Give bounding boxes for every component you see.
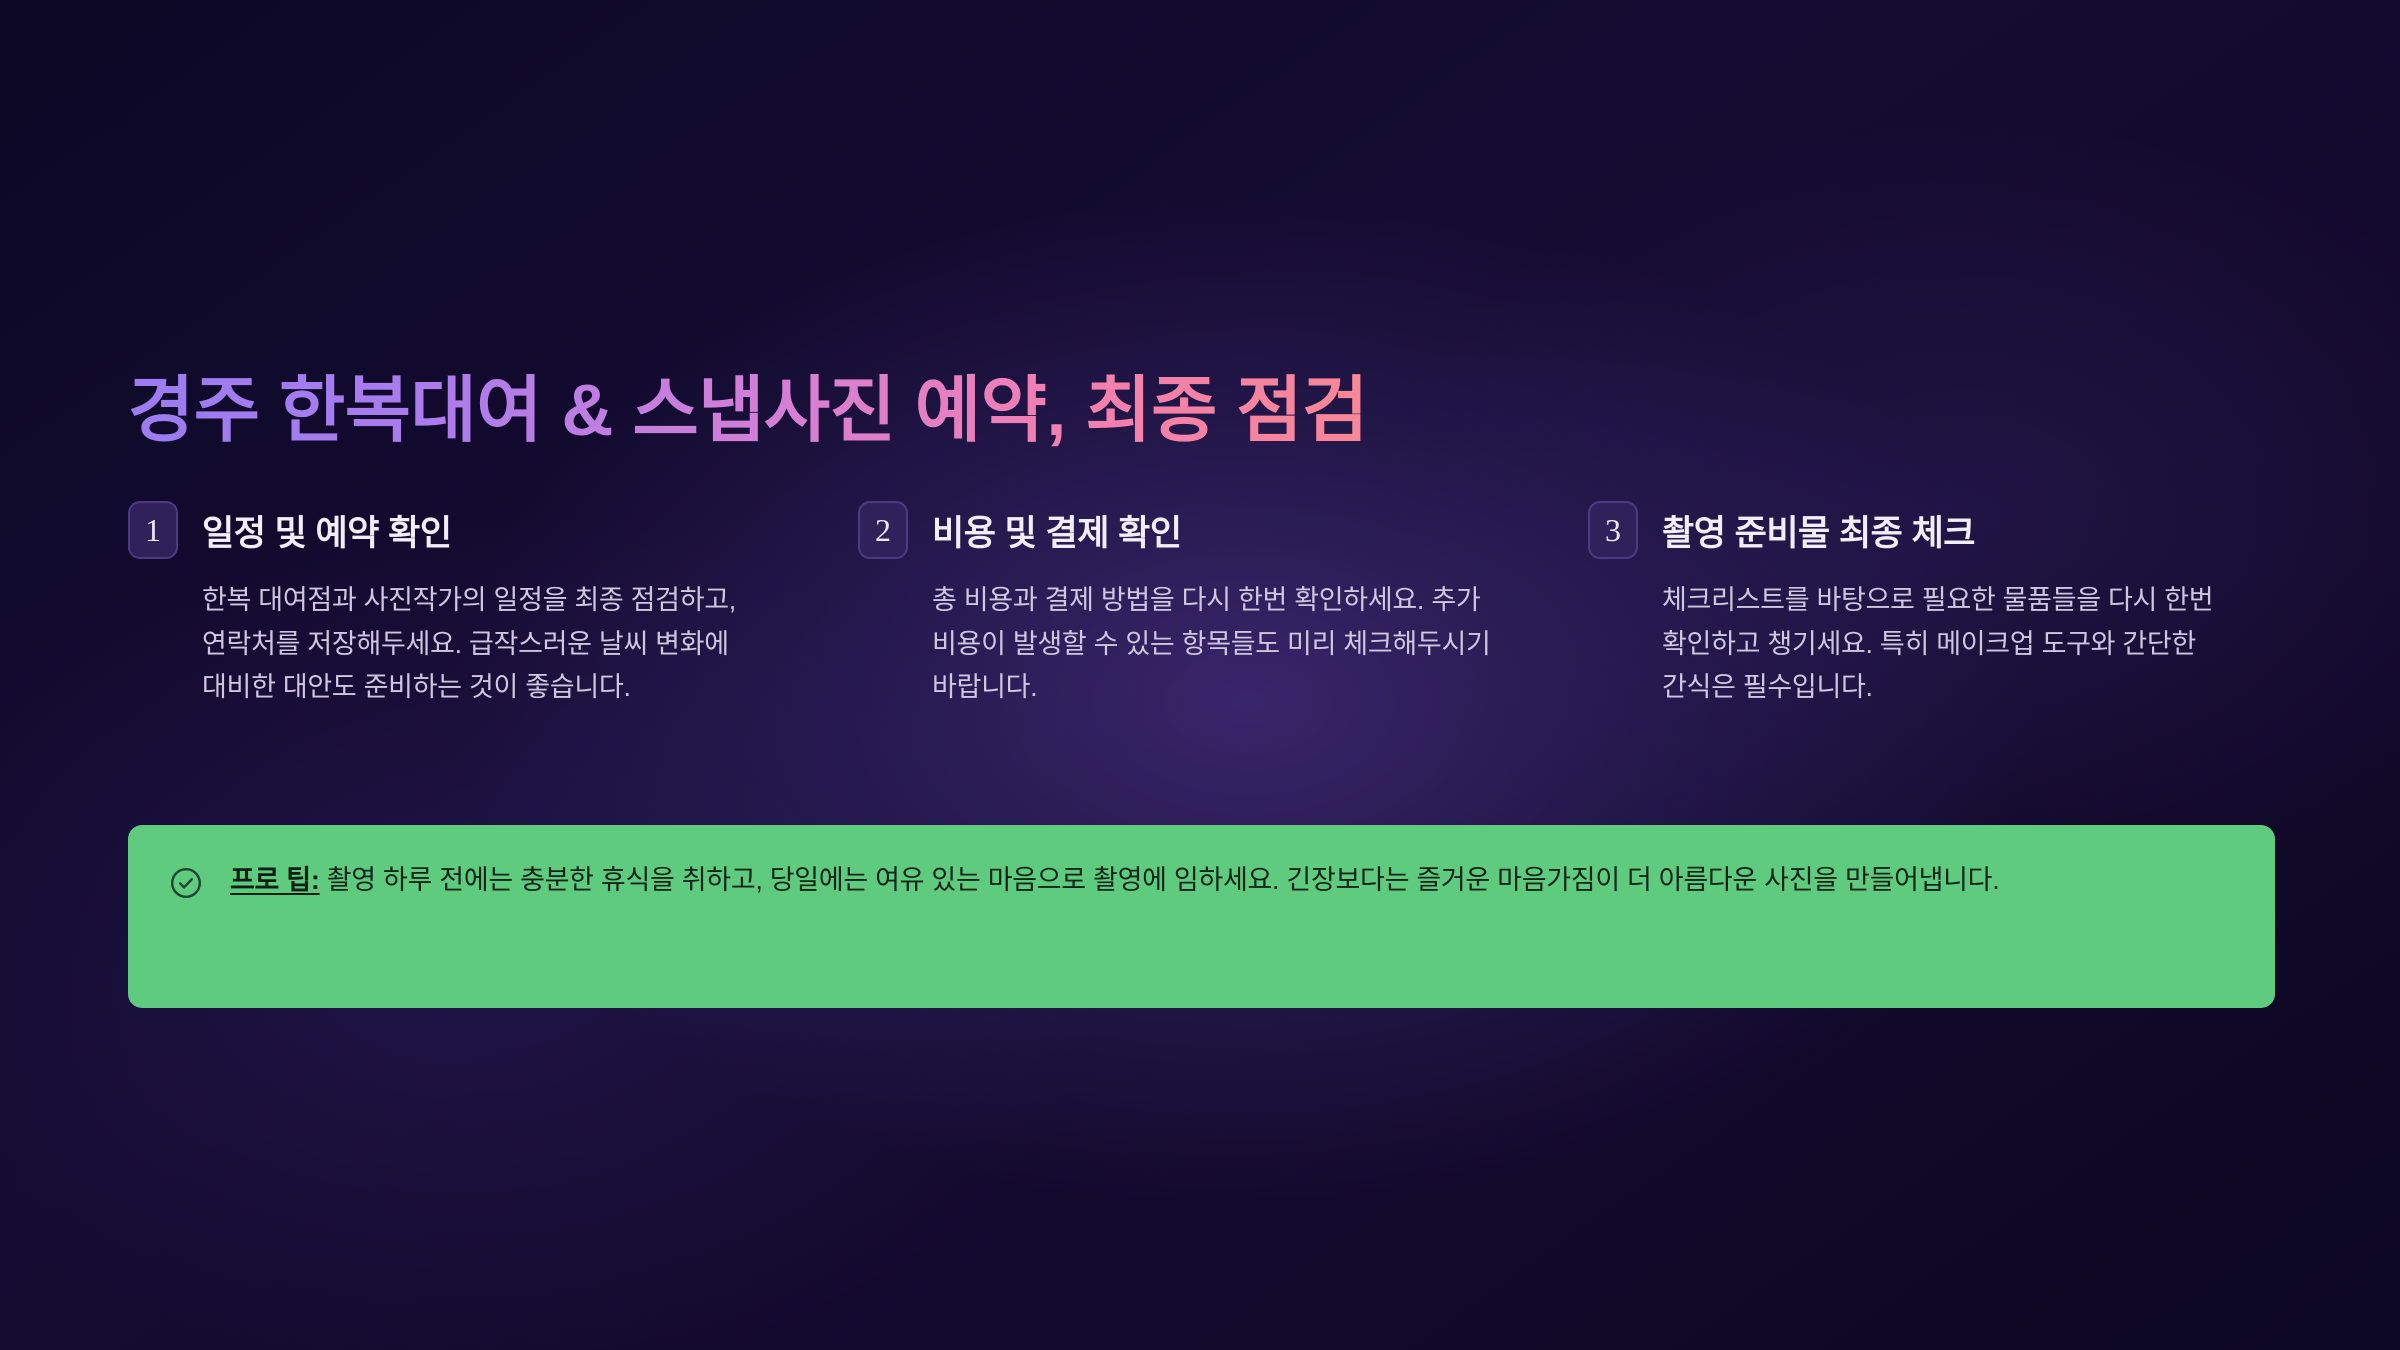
step-header-1: 1 일정 및 예약 확인 bbox=[128, 497, 774, 563]
step-body-3: 체크리스트를 바탕으로 필요한 물품들을 다시 한번 확인하고 챙기세요. 특히… bbox=[1662, 579, 2232, 710]
step-header-2: 2 비용 및 결제 확인 bbox=[858, 497, 1504, 563]
step-column-1: 1 일정 및 예약 확인 한복 대여점과 사진작가의 일정을 최종 점검하고, … bbox=[128, 497, 774, 710]
step-heading-1: 일정 및 예약 확인 bbox=[202, 505, 452, 556]
step-number-badge-2: 2 bbox=[858, 501, 908, 559]
page-title: 경주 한복대여 & 스냅사진 예약, 최종 점검 bbox=[128, 370, 2278, 453]
pro-tip-banner: 프로 팁: 촬영 하루 전에는 충분한 휴식을 취하고, 당일에는 여유 있는 … bbox=[128, 825, 2275, 1008]
step-heading-3: 촬영 준비물 최종 체크 bbox=[1662, 505, 1975, 556]
pro-tip-label: 프로 팁: bbox=[230, 865, 320, 895]
step-column-3: 3 촬영 준비물 최종 체크 체크리스트를 바탕으로 필요한 물품들을 다시 한… bbox=[1588, 497, 2234, 710]
slide-root: 경주 한복대여 & 스냅사진 예약, 최종 점검 1 일정 및 예약 확인 한복… bbox=[0, 0, 2400, 1350]
step-number-badge-1: 1 bbox=[128, 501, 178, 559]
step-body-1: 한복 대여점과 사진작가의 일정을 최종 점검하고, 연락처를 저장해두세요. … bbox=[202, 579, 774, 710]
step-column-2: 2 비용 및 결제 확인 총 비용과 결제 방법을 다시 한번 확인하세요. 추… bbox=[858, 497, 1504, 710]
step-number-badge-3: 3 bbox=[1588, 501, 1638, 559]
steps-grid: 1 일정 및 예약 확인 한복 대여점과 사진작가의 일정을 최종 점검하고, … bbox=[128, 497, 2278, 710]
pro-tip-text: 프로 팁: 촬영 하루 전에는 충분한 휴식을 취하고, 당일에는 여유 있는 … bbox=[230, 859, 1999, 903]
circle-check-icon bbox=[168, 865, 204, 901]
pro-tip-body: 촬영 하루 전에는 충분한 휴식을 취하고, 당일에는 여유 있는 마음으로 촬… bbox=[320, 865, 2000, 895]
step-header-3: 3 촬영 준비물 최종 체크 bbox=[1588, 497, 2234, 563]
step-body-2: 총 비용과 결제 방법을 다시 한번 확인하세요. 추가 비용이 발생할 수 있… bbox=[932, 579, 1502, 710]
step-heading-2: 비용 및 결제 확인 bbox=[932, 505, 1182, 556]
